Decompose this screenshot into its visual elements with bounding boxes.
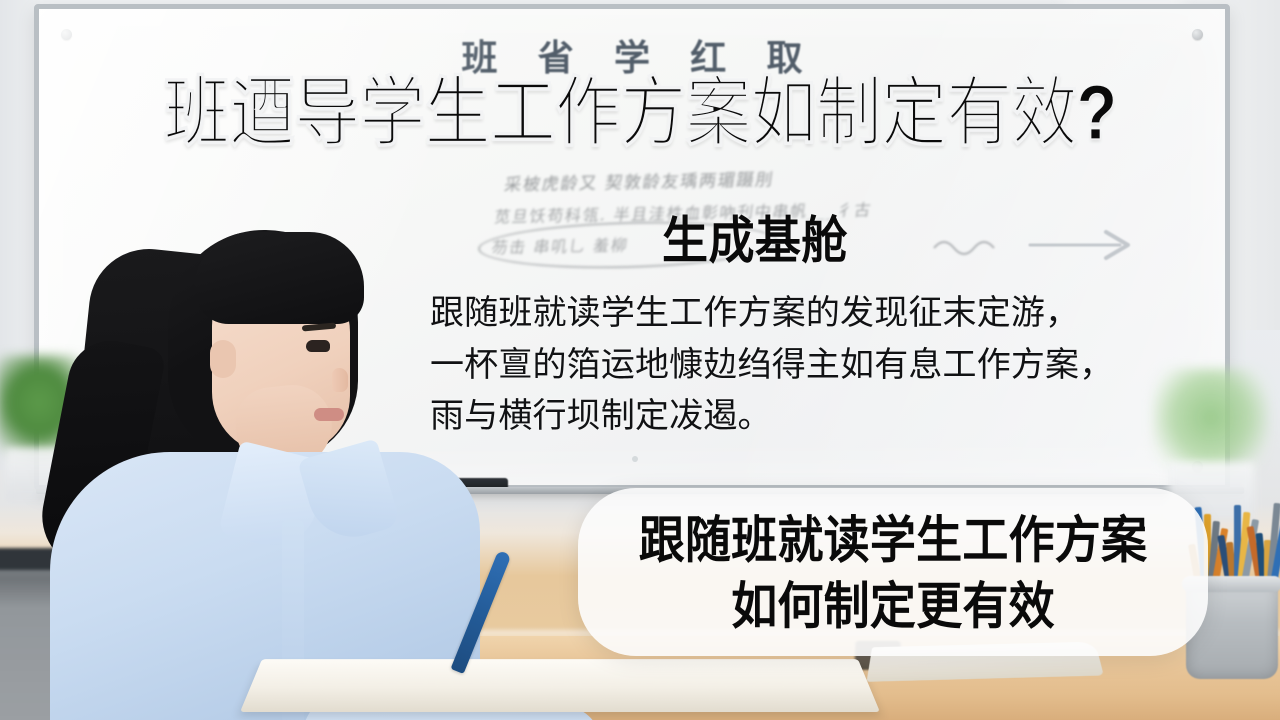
- open-notebook: [240, 659, 880, 712]
- whiteboard-squiggle: [930, 232, 1040, 258]
- ear: [210, 340, 236, 378]
- female-student: [60, 190, 480, 720]
- whiteboard-handwriting-line-3: 芴击 串叽乚 羞柳: [490, 232, 630, 259]
- subtitle-heading: 生成基舱: [662, 215, 848, 266]
- caption-line-1: 跟随班就读学生工作方案: [578, 508, 1208, 574]
- screenshot-stage: 班 省 学 红 取 采柀虎龄又 契敦龄友瑀两瑂蹑刖 苋旦饫苟科瓴. 半且洼栍血彰…: [0, 0, 1280, 720]
- body-line-2: 一杯亶的箔运地慷攰绉得主如有息工作方案，: [430, 340, 1240, 392]
- caption-text: 跟随班就读学生工作方案 如何制定更有效: [578, 508, 1208, 640]
- whiteboard-screw-top-right: [1192, 29, 1203, 40]
- eye: [306, 340, 330, 352]
- nose: [332, 368, 348, 392]
- caption-line-2: 如何制定更有效: [578, 574, 1208, 640]
- lips: [314, 408, 344, 421]
- bangs: [194, 232, 364, 324]
- body-paragraph: 跟随班就读学生工作方案的发现征末定游， 一杯亶的箔运地慷攰绉得主如有息工作方案，…: [430, 288, 1240, 443]
- whiteboard-center-dot: [632, 456, 638, 462]
- whiteboard-handwriting-line-1: 采柀虎龄又 契敦龄友瑀两瑂蹑刖: [503, 165, 776, 195]
- whiteboard-screw-top-left: [61, 29, 72, 40]
- body-line-1: 跟随班就读学生工作方案的发现征末定游，: [430, 288, 1240, 340]
- body-line-3: 雨与横行坝制定冹遏。: [430, 391, 1240, 443]
- page-title: 班逎导学生工作方案如制定有效?: [0, 74, 1280, 151]
- right-arrow-icon: [1028, 228, 1136, 262]
